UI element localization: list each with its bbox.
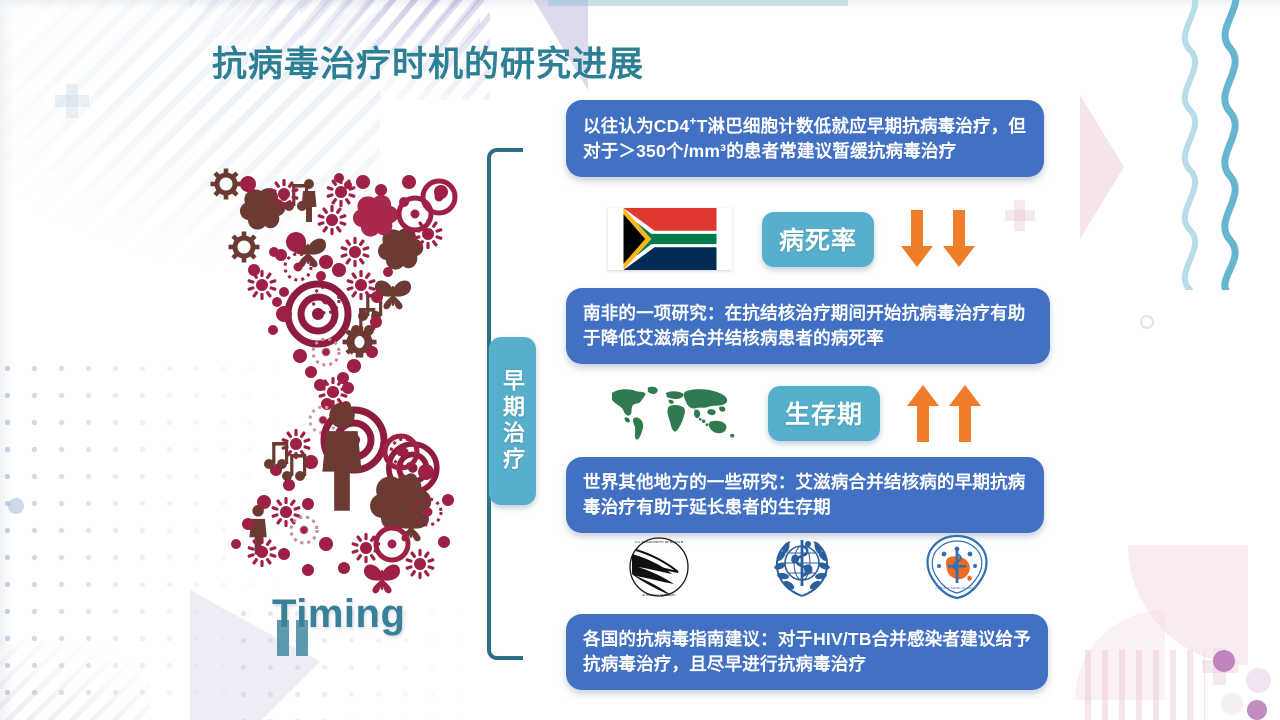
purple-dot-decor-1 xyxy=(1213,650,1235,672)
badge-mortality[interactable]: 病死率 xyxy=(762,212,874,267)
pink-quarter-circle-decor-2 xyxy=(1075,610,1165,700)
teal-bar-top-decor xyxy=(548,0,848,6)
artwork-caption: Timing xyxy=(272,592,405,637)
card-south-africa-study[interactable]: 南非的一项研究：在抗结核治疗期间开始抗病毒治疗有助于降低艾滋病合并结核病患者的病… xyxy=(566,288,1050,364)
card-previous-view[interactable]: 以往认为CD4+T淋巴细胞计数低就应早期抗病毒治疗，但对于＞350个/mm³的患… xyxy=(566,100,1044,177)
top-edge-shade xyxy=(0,0,1280,10)
pink-triangle-right-decor xyxy=(1080,95,1124,239)
metric-row-survival: 生存期 xyxy=(600,382,982,444)
arrow-down-icon xyxy=(900,210,934,268)
up-arrows-group xyxy=(906,384,982,442)
pink-diagonal-stripes-decor xyxy=(0,640,150,720)
badge-survival[interactable]: 生存期 xyxy=(768,386,880,441)
metric-row-mortality: 病死率 xyxy=(608,208,976,270)
card-1-text-part1: 以往认为CD4 xyxy=(583,116,689,136)
arrow-down-icon xyxy=(942,210,976,268)
wavy-lines-right-decor xyxy=(1168,0,1280,290)
world-map-icon xyxy=(600,382,748,444)
early-treatment-label: 早期治疗 xyxy=(489,337,536,505)
organization-logos-row: U.S. DEPARTMENT OF HEALTH & HUMAN SERVIC… xyxy=(614,534,1034,600)
who-logo-icon xyxy=(766,532,838,602)
early-treatment-label-text: 早期治疗 xyxy=(501,369,524,473)
purple-dot-decor-3 xyxy=(1246,668,1271,693)
ring-dot-decor xyxy=(1140,315,1154,329)
arrow-up-icon xyxy=(906,384,940,442)
pink-quarter-circle-decor-1 xyxy=(1128,545,1248,665)
purple-dot-decor-2 xyxy=(1247,700,1267,720)
hourglass-illustration xyxy=(196,152,486,602)
left-edge-shade xyxy=(0,0,14,720)
plus-shape-decor-1 xyxy=(55,95,89,107)
us-hhs-logo-icon: U.S. DEPARTMENT OF HEALTH & HUMAN SERVIC… xyxy=(624,534,694,600)
card-1-superscript: + xyxy=(689,114,696,128)
down-arrows-group xyxy=(900,210,976,268)
svg-text:& HUMAN SERVICES: & HUMAN SERVICES xyxy=(643,593,676,597)
svg-text:CHINESE MEDICAL ASSOC.: CHINESE MEDICAL ASSOC. xyxy=(936,586,979,590)
pink-vertical-stripes-decor xyxy=(1085,650,1205,720)
arrow-up-icon xyxy=(948,384,982,442)
south-africa-flag-icon xyxy=(608,208,732,270)
page-title: 抗病毒治疗时机的研究进展 xyxy=(212,36,644,87)
chinese-medical-association-logo-icon: CHINESE MEDICAL ASSOC. xyxy=(924,534,990,600)
svg-text:U.S. DEPARTMENT OF HEALTH: U.S. DEPARTMENT OF HEALTH xyxy=(635,540,684,544)
slide-canvas: 抗病毒治疗时机的研究进展 xyxy=(0,0,1280,720)
hourglass-graphic-icon xyxy=(196,152,486,602)
purple-dot-decor-4 xyxy=(1221,693,1243,715)
blue-dot-decor xyxy=(8,498,24,514)
card-world-studies[interactable]: 世界其他地方的一些研究：艾滋病合并结核病的早期抗病毒治疗有助于延长患者的生存期 xyxy=(566,457,1044,533)
card-guidelines[interactable]: 各国的抗病毒指南建议：对于HIV/TB合并感染者建议给予抗病毒治疗，且尽早进行抗… xyxy=(566,614,1048,690)
plus-shape-decor-2 xyxy=(1005,210,1035,221)
plus-shape-decor-3 xyxy=(1202,660,1238,673)
